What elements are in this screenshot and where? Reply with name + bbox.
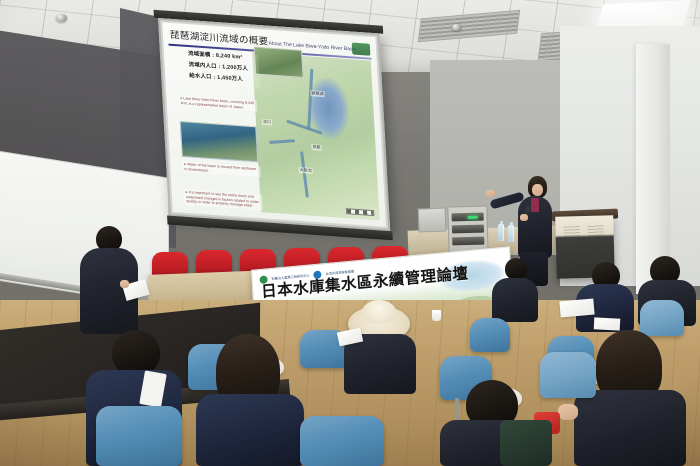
map-river-segment [286,120,322,135]
blue-chair[interactable] [540,352,596,398]
av-device[interactable] [452,237,484,246]
map-label: 大阪湾 [299,167,313,174]
audience-body [492,278,538,322]
blue-chair[interactable] [96,406,182,466]
slide-bullet: Water of the basin is reused from upstre… [182,161,261,178]
podium-plaque [587,224,603,236]
slide-logo-icon [352,42,371,55]
water-bottle[interactable] [508,225,514,242]
desk-papers [594,317,621,330]
smoke-detector-icon [56,14,67,22]
water-bottle[interactable] [498,224,504,241]
standing-man-hand [120,280,129,288]
green-jacket [500,420,552,466]
slide-bullet: Lake Biwa-Yodo River basin, covering 8,2… [178,95,257,112]
presenter-scarf [531,198,539,212]
map-scale-bar [346,208,374,216]
paper-cup[interactable] [432,310,441,321]
map-river-segment [300,151,309,197]
organizer-logo-icon [259,275,267,284]
banner-logo-right-text: 台灣水資源保育聯盟 [325,269,354,276]
presenter-hand [486,190,495,197]
av-device[interactable] [452,213,484,222]
slide-inset-photo [254,47,304,78]
podium-plaque [563,224,579,236]
basin-map: 琵琶湖 淀川 大阪湾 京都 [252,52,380,220]
av-status-indicator [468,216,478,219]
slide-bullet: It is important to see the entire basin … [184,189,263,210]
map-label: 淀川 [262,119,272,126]
organizer-logo-icon [313,270,321,279]
presentation-slide: 琵琶湖淀川流域の概要About The Lake Biwa-Yodo River… [162,22,386,227]
projection-screen: 琵琶湖淀川流域の概要About The Lake Biwa-Yodo River… [158,18,390,231]
av-monitor [418,208,447,233]
blue-chair[interactable] [300,416,384,466]
slide-inset-photo [180,121,258,162]
audience-body [574,390,686,466]
blue-chair[interactable] [470,318,510,352]
audience-head [505,258,527,280]
conference-photo: 琵琶湖淀川流域の概要About The Lake Biwa-Yodo River… [0,0,700,466]
map-label: 京都 [311,144,321,151]
map-river-segment [307,68,313,130]
audience-hand [558,404,578,420]
desk-papers [559,299,594,318]
presenter-hand-mic [520,214,528,221]
av-device[interactable] [452,225,484,234]
blue-chair[interactable] [640,300,684,336]
audience-body [196,394,304,466]
map-river-segment [269,139,295,143]
smoke-detector-icon [452,24,461,31]
sun-hat-crown [362,300,396,324]
presenter-face [532,184,543,196]
map-label: 琵琶湖 [310,90,324,97]
